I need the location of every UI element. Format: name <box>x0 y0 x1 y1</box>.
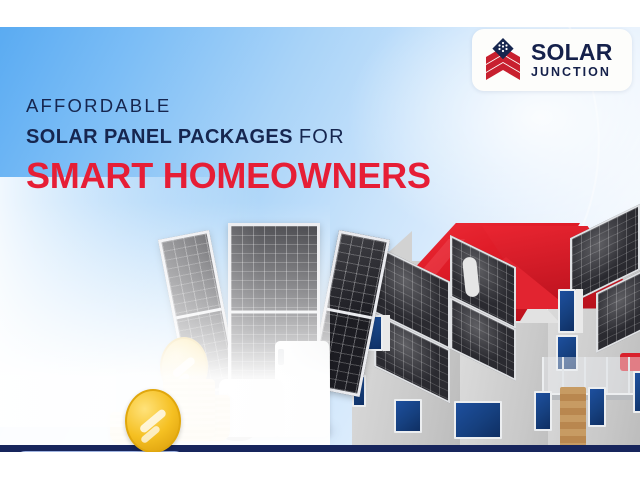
brand-logo[interactable]: SOLAR JUNCTION <box>472 29 632 91</box>
house-window <box>394 399 422 433</box>
solar-panel-diamond-chevron-icon <box>482 37 524 83</box>
headline-line-2: SOLAR PANEL PACKAGES FOR <box>26 126 431 149</box>
phone-number-text: 1300 345 365 <box>515 450 626 452</box>
window-shutter <box>383 315 390 351</box>
left-white-fade-2 <box>0 177 260 427</box>
headline-line-3: SMART HOMEOWNERS <box>26 155 431 197</box>
window-shutter <box>576 289 583 333</box>
banner-artwork: SOLAR JUNCTION AFFORDABLE SOLAR PANEL PA… <box>0 27 640 452</box>
logo-secondary-text: JUNCTION <box>531 66 613 79</box>
headline-line-1: AFFORDABLE <box>26 95 431 117</box>
house-window <box>633 371 640 413</box>
house-window <box>588 387 606 427</box>
headline-line-2-light: FOR <box>299 126 345 148</box>
headline-line-2-bold: SOLAR PANEL PACKAGES <box>26 126 293 148</box>
phone-contact[interactable]: 1300 345 365 <box>493 450 626 452</box>
front-door <box>560 387 586 452</box>
banner-canvas: SOLAR JUNCTION AFFORDABLE SOLAR PANEL PA… <box>0 0 640 480</box>
gold-coin <box>125 389 181 452</box>
headline-block: AFFORDABLE SOLAR PANEL PACKAGES FOR SMAR… <box>26 95 431 197</box>
house-window <box>558 289 576 333</box>
house-illustration <box>352 223 640 452</box>
house-window <box>454 401 502 439</box>
house-window <box>534 391 552 431</box>
logo-primary-text: SOLAR <box>531 41 613 64</box>
